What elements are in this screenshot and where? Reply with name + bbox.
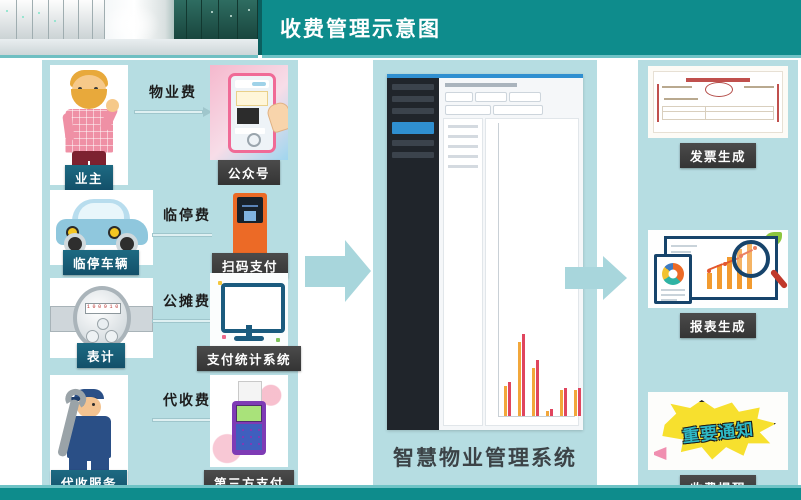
badge-owner[interactable]: 业主 [65,165,113,190]
thin-arrow-icon [134,107,212,117]
title-underline [262,55,801,58]
dashboard-list-card [443,118,483,426]
arrow-left-to-center [305,240,371,302]
title-accent-stripe [258,0,262,55]
pos-terminal-icon [210,375,288,467]
left-panel: 业主 物业费 公众号 临停车辆 临停费 [42,60,298,488]
badge-invoice-generation[interactable]: 发票生成 [680,143,756,168]
output-node-invoice[interactable] [648,66,788,138]
invoice-document-icon [648,66,788,138]
desktop-monitor-icon [210,273,288,351]
footer-bar [0,488,801,500]
dashboard-screenshot[interactable] [387,74,583,430]
dashboard-breadcrumb [445,83,517,87]
report-chart-icon [648,230,788,308]
channel-node-wechat[interactable] [210,65,288,160]
output-node-fee-reminder[interactable]: 重要通知 [648,392,788,470]
badge-parking-vehicle[interactable]: 临停车辆 [63,250,139,275]
dashboard-main [439,78,583,430]
smartphone-icon [210,65,288,160]
badge-wechat-official-account[interactable]: 公众号 [218,160,280,185]
banner-bottom-edge [0,55,258,58]
channel-node-payment-stats[interactable] [210,273,288,351]
arrow-center-to-right [565,256,627,300]
title-bar: 收费管理示意图 [258,0,801,55]
center-panel: 智慧物业管理系统 [373,60,597,488]
badge-payment-stats-system[interactable]: 支付统计系统 [197,346,301,371]
output-node-report[interactable] [648,230,788,308]
right-panel: 发票生成 [638,60,798,488]
dashboard-sidebar[interactable] [387,78,439,430]
flow-label-property-fee: 物业费 [134,82,212,102]
server-room-banner-photo [0,0,258,55]
page-title: 收费管理示意图 [258,13,441,43]
meter-reading: 100 910 [85,303,121,314]
center-caption: 智慧物业管理系统 [373,442,597,472]
notice-burst-icon: 重要通知 [648,392,788,470]
badge-report-generation[interactable]: 报表生成 [680,313,756,338]
flow-property-fee: 物业费 [134,82,212,117]
badge-meter[interactable]: 表计 [77,343,125,368]
channel-node-third-party-pay[interactable] [210,375,288,467]
